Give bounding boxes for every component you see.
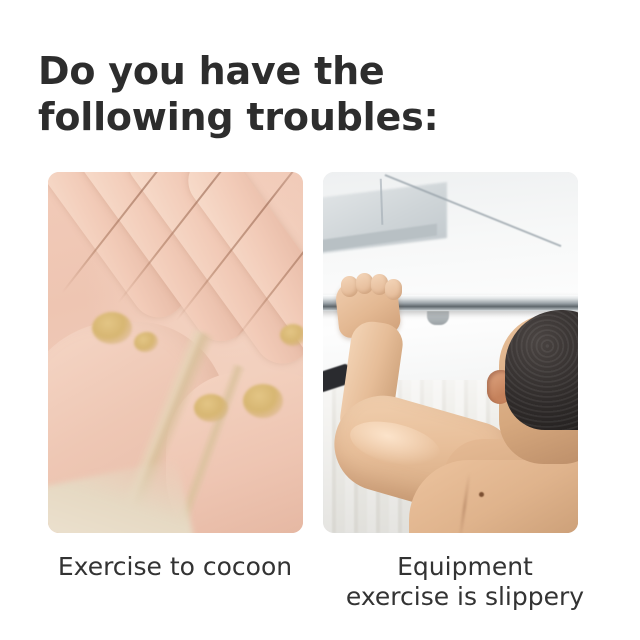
caption-callused-hands: Exercise to cocoon bbox=[30, 552, 320, 612]
photo-callused-hands[interactable] bbox=[48, 172, 303, 533]
callus-spot bbox=[92, 312, 132, 344]
bar-bracket bbox=[427, 311, 449, 325]
callus-spot bbox=[280, 324, 303, 346]
caption-pullup-grip: Equipment exercise is slippery bbox=[320, 552, 610, 612]
knuckle bbox=[385, 279, 402, 300]
photo-pullup-grip[interactable] bbox=[323, 172, 578, 533]
caption-row: Exercise to cocoon Equipment exercise is… bbox=[30, 552, 610, 612]
gym-photo-illustration bbox=[323, 172, 578, 533]
callus-spot bbox=[243, 384, 283, 418]
page-title: Do you have the following troubles: bbox=[38, 48, 598, 140]
hands-photo-illustration bbox=[48, 172, 303, 533]
shoulder bbox=[409, 460, 578, 533]
skin-mole bbox=[479, 492, 484, 497]
photo-row bbox=[48, 172, 578, 533]
promo-poster: Do you have the following troubles: bbox=[0, 0, 640, 640]
callus-spot bbox=[194, 394, 228, 422]
